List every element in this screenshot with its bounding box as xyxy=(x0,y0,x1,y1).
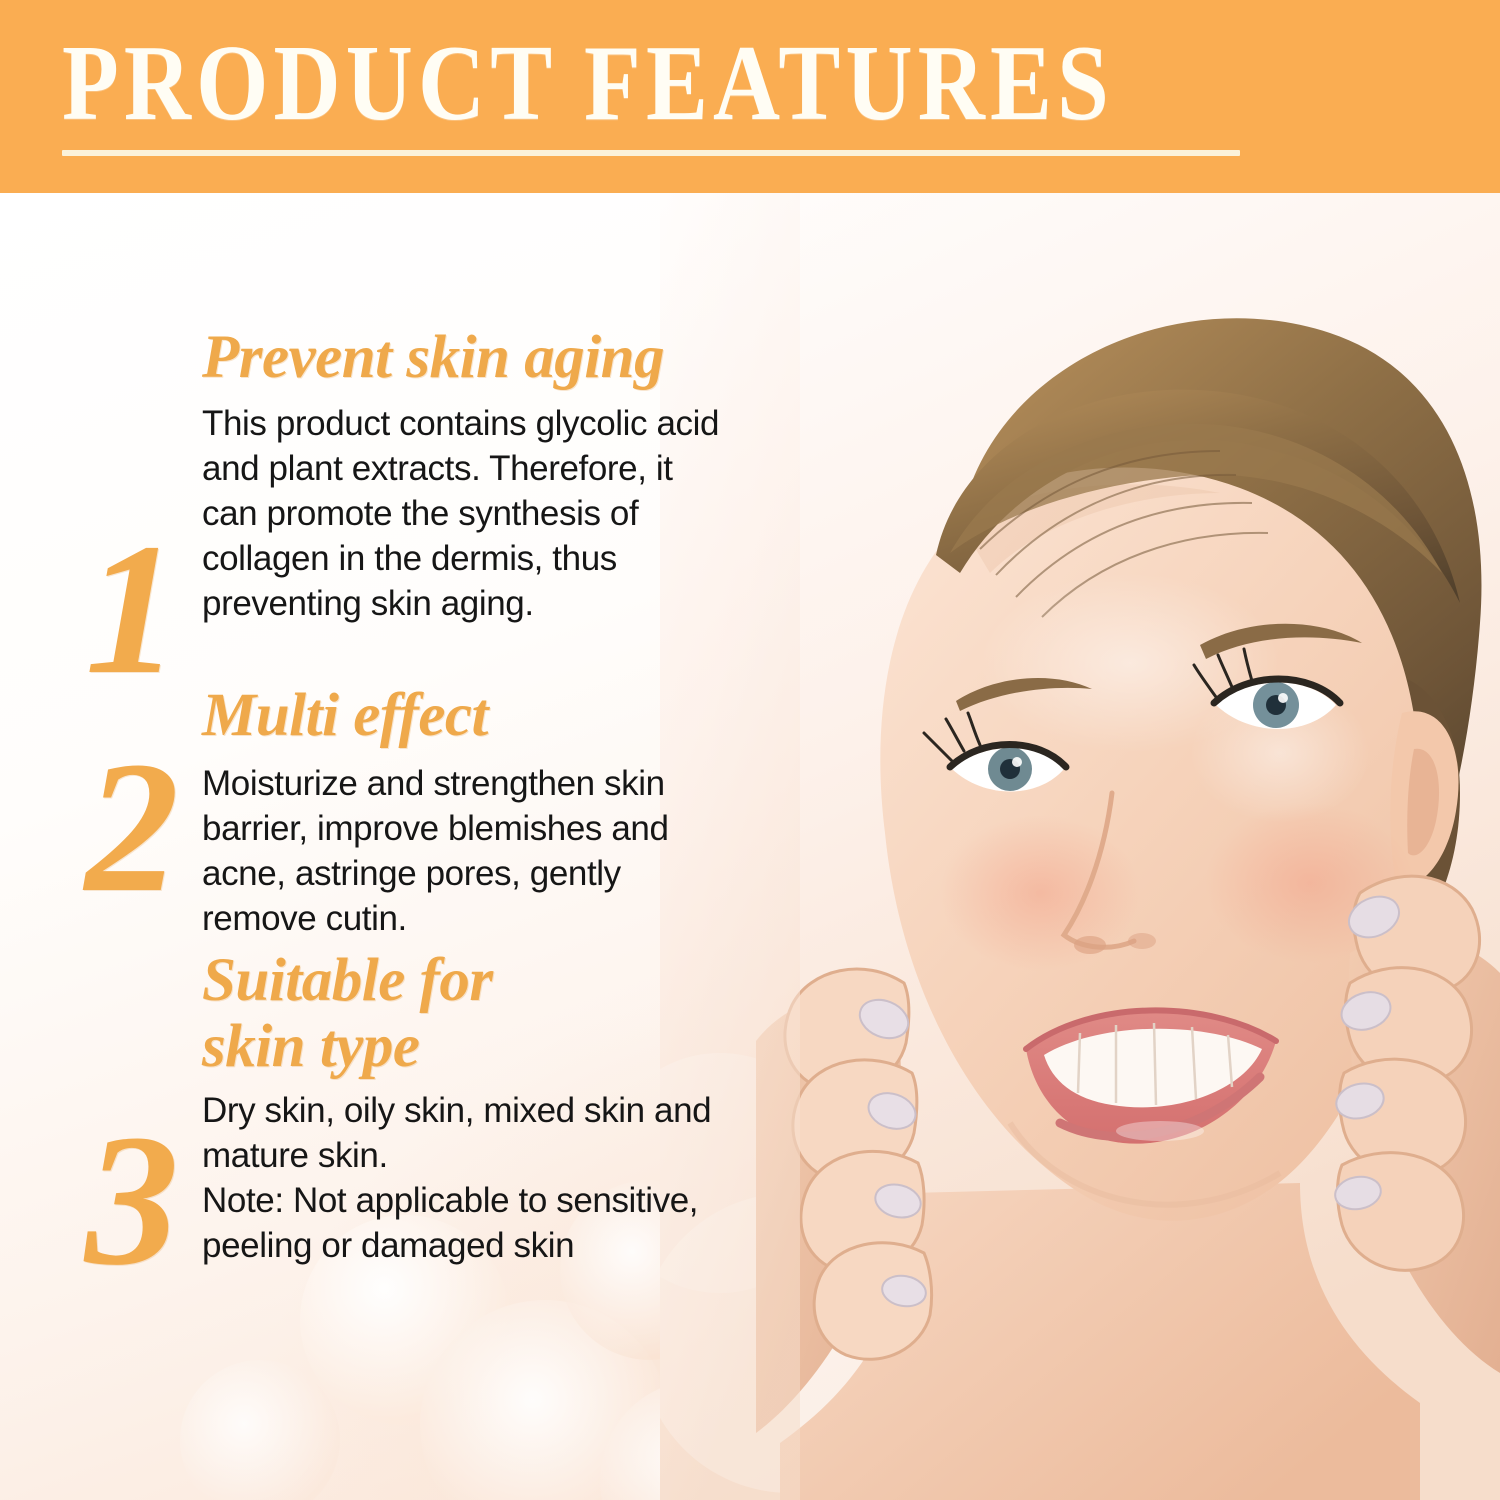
feature-number-3: 3 xyxy=(62,1106,202,1294)
feature-body-1: Prevent skin aging This product contains… xyxy=(202,325,722,626)
feature-body-3: Suitable for skin type Dry skin, oily sk… xyxy=(202,948,722,1268)
feature-number-2: 2 xyxy=(62,733,202,921)
feature-number-1: 1 xyxy=(62,515,202,703)
feature-body-2: Multi effect Moisturize and strengthen s… xyxy=(202,683,722,941)
model-photo xyxy=(660,193,1500,1500)
feature-title-2: Multi effect xyxy=(202,683,722,749)
feature-title-3: Suitable for skin type xyxy=(202,948,722,1080)
page-title: PRODUCT FEATURES xyxy=(62,28,1094,140)
header-banner: PRODUCT FEATURES xyxy=(0,0,1500,193)
header-underline-rule xyxy=(62,150,1240,156)
feature-note-3: Note: Not applicable to sensitive, peeli… xyxy=(202,1178,722,1268)
feature-text-3: Dry skin, oily skin, mixed skin and matu… xyxy=(202,1088,722,1178)
features-list: 1 Prevent skin aging This product contai… xyxy=(0,193,760,1500)
feature-title-1: Prevent skin aging xyxy=(202,325,722,391)
feature-text-1: This product contains glycolic acid and … xyxy=(202,401,722,626)
feature-text-2: Moisturize and strengthen skin barrier, … xyxy=(202,761,722,941)
product-features-infographic: PRODUCT FEATURES 1 Prevent skin aging Th… xyxy=(0,0,1500,1500)
